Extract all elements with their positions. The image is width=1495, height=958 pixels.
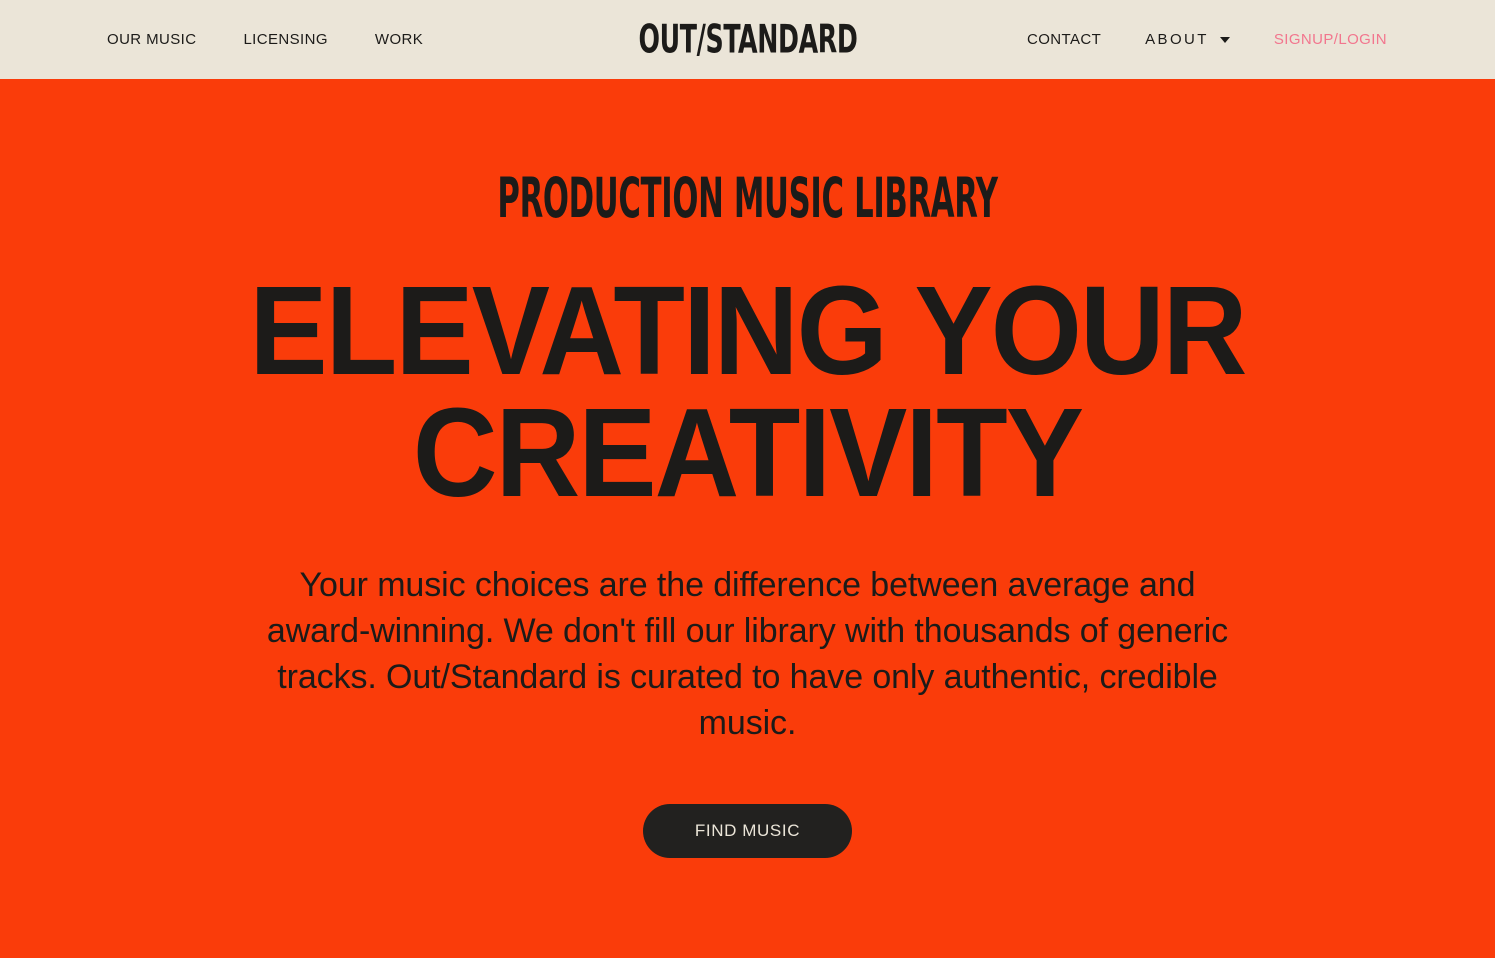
primary-navigation-right: CONTACT ABOUT SIGNUP/LOGIN — [1027, 31, 1387, 48]
hero-headline: ELEVATING YOUR CREATIVITY — [0, 226, 1495, 514]
find-music-button[interactable]: FIND MUSIC — [643, 804, 852, 858]
primary-navigation-left: OUR MUSIC LICENSING WORK — [107, 32, 423, 47]
brand-logo[interactable]: OUT/STANDARD — [638, 20, 857, 59]
hero-headline-line-1: ELEVATING YOUR — [52, 270, 1442, 392]
nav-item-licensing[interactable]: LICENSING — [243, 32, 327, 47]
hero-section: PRODUCTION MUSIC LIBRARY ELEVATING YOUR … — [0, 79, 1495, 958]
hero-eyebrow: PRODUCTION MUSIC LIBRARY — [284, 79, 1211, 226]
hero-cta-container: FIND MUSIC — [0, 746, 1495, 858]
nav-item-work[interactable]: WORK — [375, 32, 423, 47]
nav-item-about-label: ABOUT — [1145, 32, 1209, 47]
nav-item-about[interactable]: ABOUT — [1145, 32, 1230, 47]
chevron-down-icon — [1220, 37, 1230, 43]
site-header: OUR MUSIC LICENSING WORK OUT/STANDARD CO… — [0, 0, 1495, 79]
nav-item-contact[interactable]: CONTACT — [1027, 32, 1101, 47]
hero-description: Your music choices are the difference be… — [248, 514, 1248, 746]
hero-headline-line-2: CREATIVITY — [52, 392, 1442, 514]
nav-item-our-music[interactable]: OUR MUSIC — [107, 32, 196, 47]
nav-item-signup-login[interactable]: SIGNUP/LOGIN — [1274, 31, 1387, 48]
